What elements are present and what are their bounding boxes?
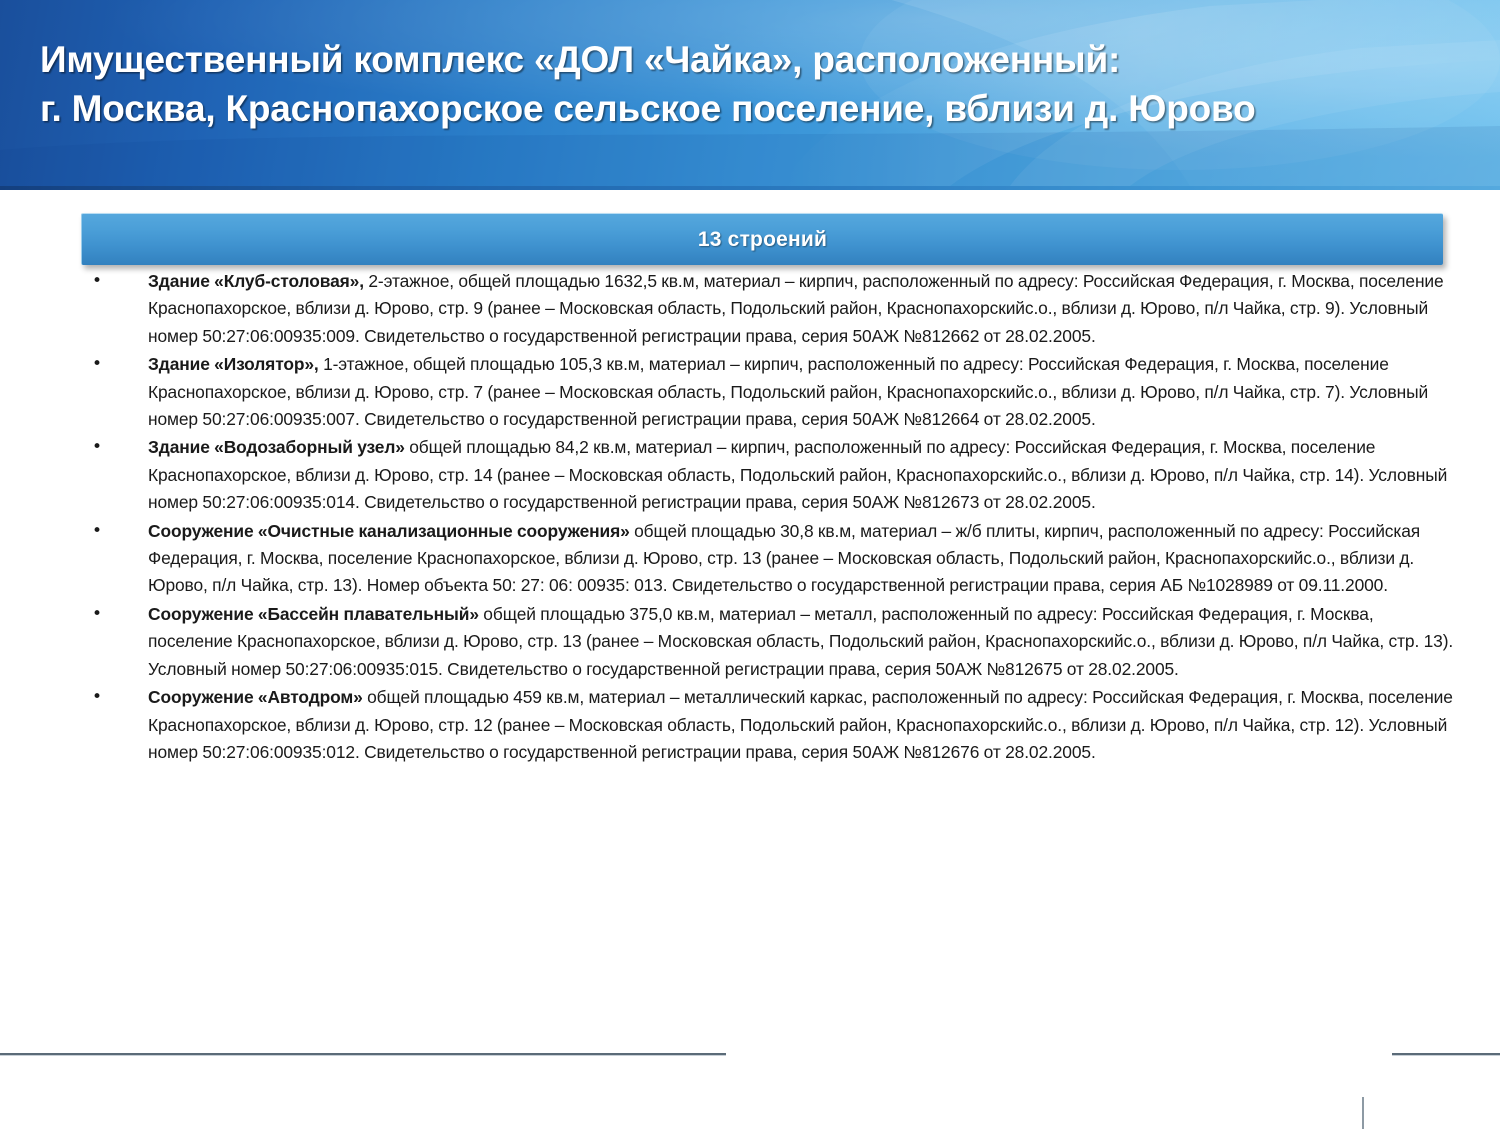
footer-divider-left-shadow bbox=[0, 1055, 726, 1056]
section-banner: 13 строений bbox=[81, 213, 1443, 265]
building-list: • Здание «Клуб-столовая», 2-этажное, общ… bbox=[60, 268, 1455, 767]
bullet-marker-icon: • bbox=[60, 684, 148, 711]
list-item-text: Здание «Изолятор», 1-этажное, общей площ… bbox=[148, 351, 1455, 433]
list-item-text: Здание «Клуб-столовая», 2-этажное, общей… bbox=[148, 268, 1455, 350]
list-item-body: 1-этажное, общей площадью 105,3 кв.м, ма… bbox=[148, 354, 1428, 429]
list-item-title: Здание «Водозаборный узел» bbox=[148, 437, 405, 457]
list-item: • Сооружение «Очистные канализационные с… bbox=[60, 518, 1455, 600]
list-item-text: Здание «Водозаборный узел» общей площадь… bbox=[148, 434, 1455, 516]
list-item-text: Сооружение «Автодром» общей площадью 459… bbox=[148, 684, 1455, 766]
list-item: • Сооружение «Бассейн плавательный» обще… bbox=[60, 601, 1455, 683]
header-bottom-rule-highlight bbox=[0, 190, 1500, 193]
footer-tick-mark bbox=[1362, 1097, 1364, 1129]
list-item-text: Сооружение «Бассейн плавательный» общей … bbox=[148, 601, 1455, 683]
bullet-marker-icon: • bbox=[60, 351, 148, 378]
page-title: Имущественный комплекс «ДОЛ «Чайка», рас… bbox=[40, 36, 1480, 134]
bullet-marker-icon: • bbox=[60, 601, 148, 628]
list-item-title: Здание «Изолятор», bbox=[148, 354, 319, 374]
list-item: • Здание «Клуб-столовая», 2-этажное, общ… bbox=[60, 268, 1455, 350]
list-item-title: Сооружение «Бассейн плавательный» bbox=[148, 604, 479, 624]
list-item-title: Сооружение «Автодром» bbox=[148, 687, 363, 707]
bullet-marker-icon: • bbox=[60, 518, 148, 545]
slide-header-banner: Имущественный комплекс «ДОЛ «Чайка», рас… bbox=[0, 0, 1500, 186]
list-item: • Здание «Изолятор», 1-этажное, общей пл… bbox=[60, 351, 1455, 433]
bullet-marker-icon: • bbox=[60, 434, 148, 461]
list-item-text: Сооружение «Очистные канализационные соо… bbox=[148, 518, 1455, 600]
bullet-marker-icon: • bbox=[60, 268, 148, 295]
section-banner-label: 13 строений bbox=[698, 228, 827, 252]
list-item-title: Сооружение «Очистные канализационные соо… bbox=[148, 521, 630, 541]
list-item: • Сооружение «Автодром» общей площадью 4… bbox=[60, 684, 1455, 766]
list-item: • Здание «Водозаборный узел» общей площа… bbox=[60, 434, 1455, 516]
list-item-title: Здание «Клуб-столовая», bbox=[148, 271, 364, 291]
footer-divider-right-shadow bbox=[1392, 1055, 1500, 1056]
